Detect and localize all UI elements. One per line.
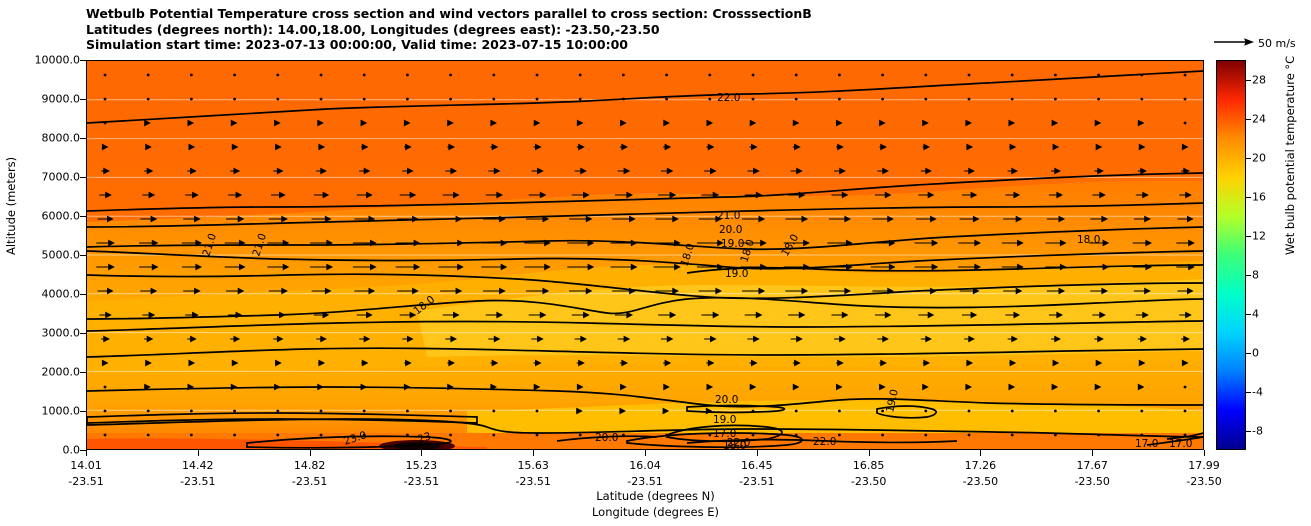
x-tick-mark [980,450,981,456]
x-tick-mark [757,450,758,456]
x-tick-label: 17.99 -23.50 [1159,458,1249,490]
x-tick-label: 16.45 -23.51 [712,458,802,490]
colorbar-tick-mark [1246,314,1251,315]
x-axis-title-lon: Longitude (degrees E) [0,504,1311,520]
colorbar-tick-label: 0 [1252,346,1259,359]
figure-title: Wetbulb Potential Temperature cross sect… [86,6,812,53]
colorbar-tick-label: 20 [1252,151,1266,164]
colorbar-gradient [1217,61,1245,449]
svg-text:19.0: 19.0 [725,268,748,280]
x-tick-mark [1092,450,1093,456]
y-tick-label: 3000.0 [4,327,80,340]
x-tick-label: 15.23 -23.51 [376,458,466,490]
x-tick-label: 15.63 -23.51 [488,458,578,490]
y-tick-label: 10000.0 [4,54,80,67]
colorbar [1216,60,1246,450]
x-tick-mark [1204,450,1205,456]
colorbar-tick-label: 8 [1252,268,1259,281]
x-tick-label: 17.26 -23.50 [935,458,1025,490]
vector-key-label: 50 m/s [1258,37,1296,50]
x-tick-mark [645,450,646,456]
colorbar-tick-mark [1246,431,1251,432]
colorbar-tick-label: 12 [1252,229,1266,242]
svg-text:20.0: 20.0 [719,224,742,236]
y-tick-label: 5000.0 [4,249,80,262]
svg-text:17.0: 17.0 [1135,438,1158,449]
colorbar-tick-label: 28 [1252,73,1266,86]
colorbar-tick-mark [1246,392,1251,393]
x-tick-label: 14.42 -23.51 [153,458,243,490]
colorbar-tick-label: 16 [1252,190,1266,203]
x-tick-label: 17.67 -23.50 [1047,458,1137,490]
svg-text:22.0: 22.0 [813,436,836,448]
plot-area: 22.0 21.0 21.0 21.0 20.0 19.0 18.0 18.0 … [86,60,1204,450]
x-tick-label: 14.01 -23.51 [41,458,131,490]
svg-text:21.0: 21.0 [717,210,740,222]
title-line-1: Wetbulb Potential Temperature cross sect… [86,6,812,21]
y-tick-label: 2000.0 [4,366,80,379]
y-tick-label: 6000.0 [4,210,80,223]
colorbar-tick-label: -8 [1252,424,1263,437]
x-tick-mark [869,450,870,456]
title-line-3: Simulation start time: 2023-07-13 00:00:… [86,37,628,52]
x-axis-title-lat: Latitude (degrees N) [0,488,1311,504]
x-tick-label: 16.04 -23.51 [600,458,690,490]
x-tick-mark [310,450,311,456]
colorbar-tick-mark [1246,236,1251,237]
colorbar-tick-mark [1246,275,1251,276]
y-tick-label: 8000.0 [4,132,80,145]
svg-text:19.0: 19.0 [721,238,744,250]
figure-root: Wetbulb Potential Temperature cross sect… [0,0,1311,526]
colorbar-tick-label: -4 [1252,385,1263,398]
svg-text:20.0: 20.0 [595,432,618,444]
colorbar-tick-mark [1246,80,1251,81]
x-tick-mark [421,450,422,456]
svg-text:17.0: 17.0 [1169,438,1192,449]
svg-text:19.0: 19.0 [713,414,736,426]
svg-text:22.0: 22.0 [717,92,740,104]
vector-key: 50 m/s [1212,34,1311,54]
colorbar-tick-mark [1246,353,1251,354]
colorbar-tick-label: 4 [1252,307,1259,320]
colorbar-tick-mark [1246,197,1251,198]
y-tick-label: 4000.0 [4,288,80,301]
x-tick-label: 14.82 -23.51 [265,458,355,490]
x-tick-mark [198,450,199,456]
x-tick-mark [533,450,534,456]
x-tick-label: 16.85 -23.50 [824,458,914,490]
contour-fill-canvas: 22.0 21.0 21.0 21.0 20.0 19.0 18.0 18.0 … [87,61,1203,449]
y-tick-label: 9000.0 [4,93,80,106]
y-tick-label: 7000.0 [4,171,80,184]
colorbar-tick-label: 24 [1252,112,1266,125]
svg-text:22.0: 22.0 [727,437,750,449]
svg-text:20.0: 20.0 [715,394,738,406]
colorbar-tick-mark [1246,119,1251,120]
colorbar-tick-mark [1246,158,1251,159]
colorbar-title: Wet bulb potential temperature °C [1283,56,1297,255]
y-tick-label: 0.0 [4,444,80,457]
title-line-2: Latitudes (degrees north): 14.00,18.00, … [86,22,660,37]
x-tick-mark [86,450,87,456]
svg-text:18.0: 18.0 [1077,234,1100,246]
y-tick-label: 1000.0 [4,405,80,418]
